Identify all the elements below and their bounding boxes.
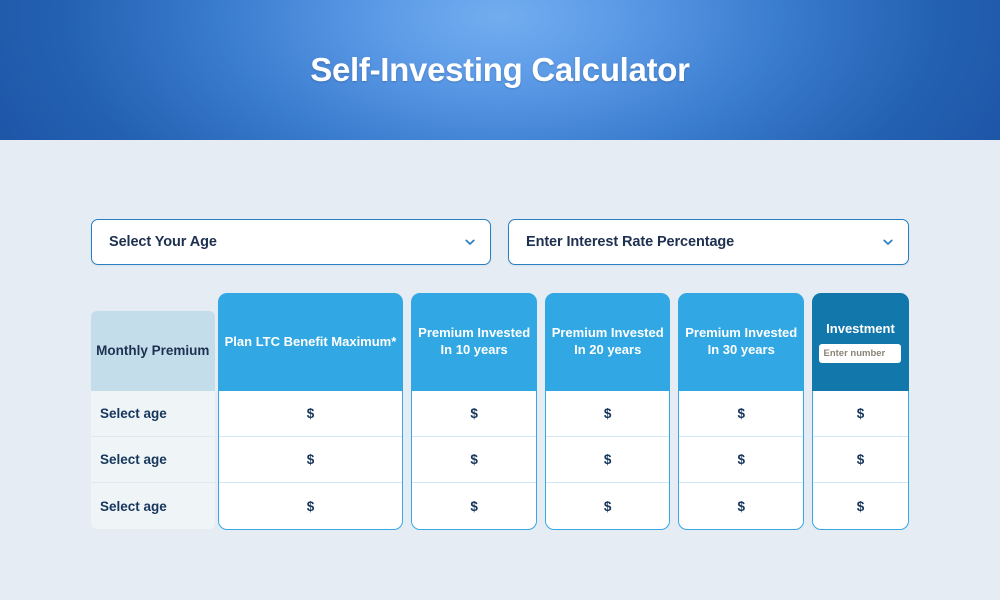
table-row[interactable]: Select age [91, 391, 215, 437]
column-investment: Investment $ $ $ [812, 293, 909, 530]
investment-amount-input[interactable] [819, 344, 901, 363]
table-cell: $ [219, 391, 403, 437]
age-select[interactable]: Select Your Age [91, 219, 491, 265]
table-cell: $ [219, 437, 403, 483]
table-cell: $ [813, 391, 908, 437]
column-body-premium-invested-10-years: $ $ $ [411, 391, 537, 530]
table-cell: $ [546, 437, 670, 483]
page-header-banner: Self-Investing Calculator [0, 0, 1000, 140]
column-body-premium-invested-30-years: $ $ $ [678, 391, 804, 530]
chevron-down-icon [882, 236, 894, 248]
table-cell: $ [412, 391, 536, 437]
column-header-plan-ltc-benefit-maximum: Plan LTC Benefit Maximum* [218, 293, 404, 391]
column-header-line-2: In 10 years [441, 342, 508, 357]
column-header-line-2: In 30 years [708, 342, 775, 357]
column-premium-invested-10-years: Premium Invested In 10 years $ $ $ [411, 293, 537, 530]
table-cell: $ [813, 437, 908, 483]
column-premium-invested-20-years: Premium Invested In 20 years $ $ $ [545, 293, 671, 530]
table-cell: $ [679, 437, 803, 483]
column-header-line-1: Premium Invested [685, 325, 797, 340]
column-header-investment: Investment [812, 293, 909, 391]
column-premium-invested-30-years: Premium Invested In 30 years $ $ $ [678, 293, 804, 530]
interest-rate-select-label: Enter Interest Rate Percentage [526, 234, 882, 250]
column-header-line-1: Plan LTC Benefit Maximum* [225, 334, 397, 351]
column-body-monthly-premium: Select age Select age Select age [91, 391, 215, 529]
table-cell: $ [546, 391, 670, 437]
column-plan-ltc-benefit-maximum: Plan LTC Benefit Maximum* $ $ $ [218, 293, 404, 530]
column-body-investment: $ $ $ [812, 391, 909, 530]
table-cell: $ [679, 483, 803, 529]
column-header-monthly-premium: Monthly Premium [91, 311, 215, 391]
age-select-label: Select Your Age [109, 234, 464, 250]
results-table: Monthly Premium Select age Select age Se… [91, 293, 909, 523]
table-row[interactable]: Select age [91, 483, 215, 529]
column-header-premium-invested-20-years: Premium Invested In 20 years [545, 293, 671, 391]
table-cell: $ [813, 483, 908, 529]
table-cell: $ [412, 437, 536, 483]
column-header-line-1: Premium Invested [552, 325, 664, 340]
column-header-premium-invested-30-years: Premium Invested In 30 years [678, 293, 804, 391]
table-row[interactable]: Select age [91, 437, 215, 483]
chevron-down-icon [464, 236, 476, 248]
column-monthly-premium: Monthly Premium Select age Select age Se… [91, 311, 215, 529]
column-header-line-2: In 20 years [574, 342, 641, 357]
table-cell: $ [546, 483, 670, 529]
table-cell: $ [679, 391, 803, 437]
column-header-premium-invested-10-years: Premium Invested In 10 years [411, 293, 537, 391]
table-cell: $ [412, 483, 536, 529]
page-title: Self-Investing Calculator [0, 0, 1000, 140]
column-header-label: Investment [826, 321, 895, 338]
controls-row: Select Your Age Enter Interest Rate Perc… [91, 219, 909, 265]
column-body-plan-ltc-benefit-maximum: $ $ $ [218, 391, 404, 530]
interest-rate-select[interactable]: Enter Interest Rate Percentage [508, 219, 909, 265]
column-header-line-1: Premium Invested [418, 325, 530, 340]
table-cell: $ [219, 483, 403, 529]
column-body-premium-invested-20-years: $ $ $ [545, 391, 671, 530]
